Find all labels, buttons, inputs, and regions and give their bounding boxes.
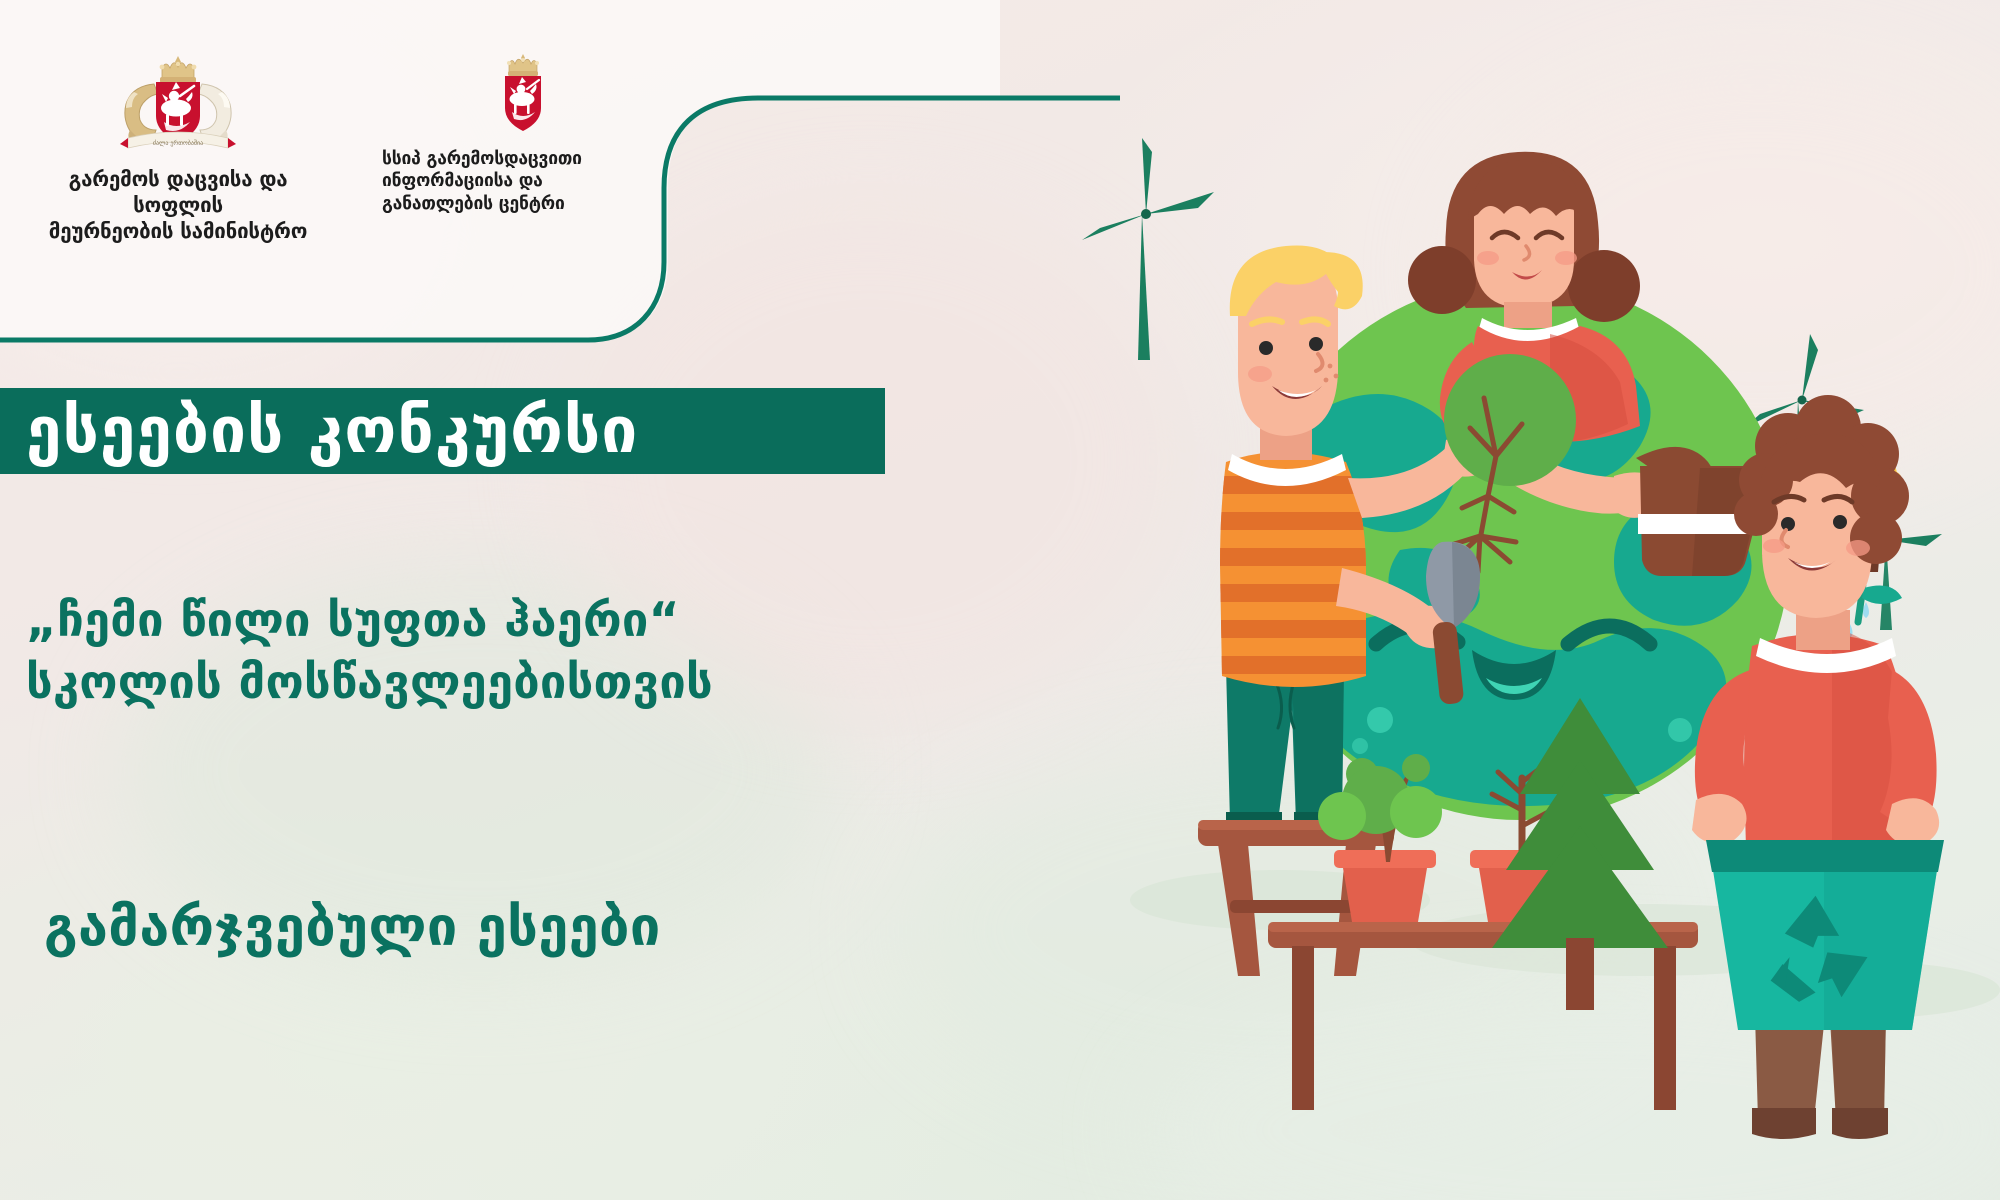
subtitle-line-1: „ჩემი წილი სუფთა ჰაერი“ [26, 590, 976, 652]
logo-environmental-center: სსიპ გარემოსდაცვითი ინფორმაციისა და განა… [378, 52, 668, 215]
logo-center-line-3: განათლების ცენტრი [382, 194, 565, 214]
logo-center-line-2: ინფორმაციისა და [382, 171, 543, 191]
subtitle-line-2: სკოლის მოსწავლეებისთვის [26, 652, 976, 714]
subtitle-block: „ჩემი წილი სუფთა ჰაერი“ სკოლის მოსწავლეე… [26, 590, 976, 714]
logo-strip: ძალა ერთობაშია გარემოს დაცვისა და სოფლის… [0, 0, 720, 270]
logo-ministry: ძალა ერთობაშია გარემოს დაცვისა და სოფლის… [28, 52, 328, 245]
poster-root: ძალა ერთობაშია გარემოს დაცვისა და სოფლის… [0, 0, 2000, 1200]
logo-ministry-label: გარემოს დაცვისა და სოფლის მეურნეობის სამ… [28, 166, 328, 245]
logo-environmental-center-label: სსიპ გარემოსდაცვითი ინფორმაციისა და განა… [382, 148, 668, 215]
svg-text:ძალა ერთობაშია: ძალა ერთობაშია [153, 140, 203, 147]
logo-ministry-line-1: გარემოს დაცვისა და სოფლის [69, 167, 288, 217]
children-planting-earth-illustration [1080, 110, 2000, 1200]
wind-turbine-icon [1082, 138, 1214, 360]
footline-text: გამარჯვებული ესეები [44, 895, 1044, 958]
georgia-small-arms-icon [493, 52, 553, 134]
illustration-svg [1080, 110, 2000, 1200]
logo-center-line-1: სსიპ გარემოსდაცვითი [382, 149, 582, 169]
georgia-coat-of-arms-icon: ძალა ერთობაშია [110, 52, 246, 156]
logo-ministry-line-2: მეურნეობის სამინისტრო [49, 219, 307, 243]
recycling-bin-icon [1706, 840, 1944, 1030]
headline-banner: ესეების კონკურსი [0, 388, 885, 474]
banner-title: ესეების კონკურსი [0, 399, 638, 463]
